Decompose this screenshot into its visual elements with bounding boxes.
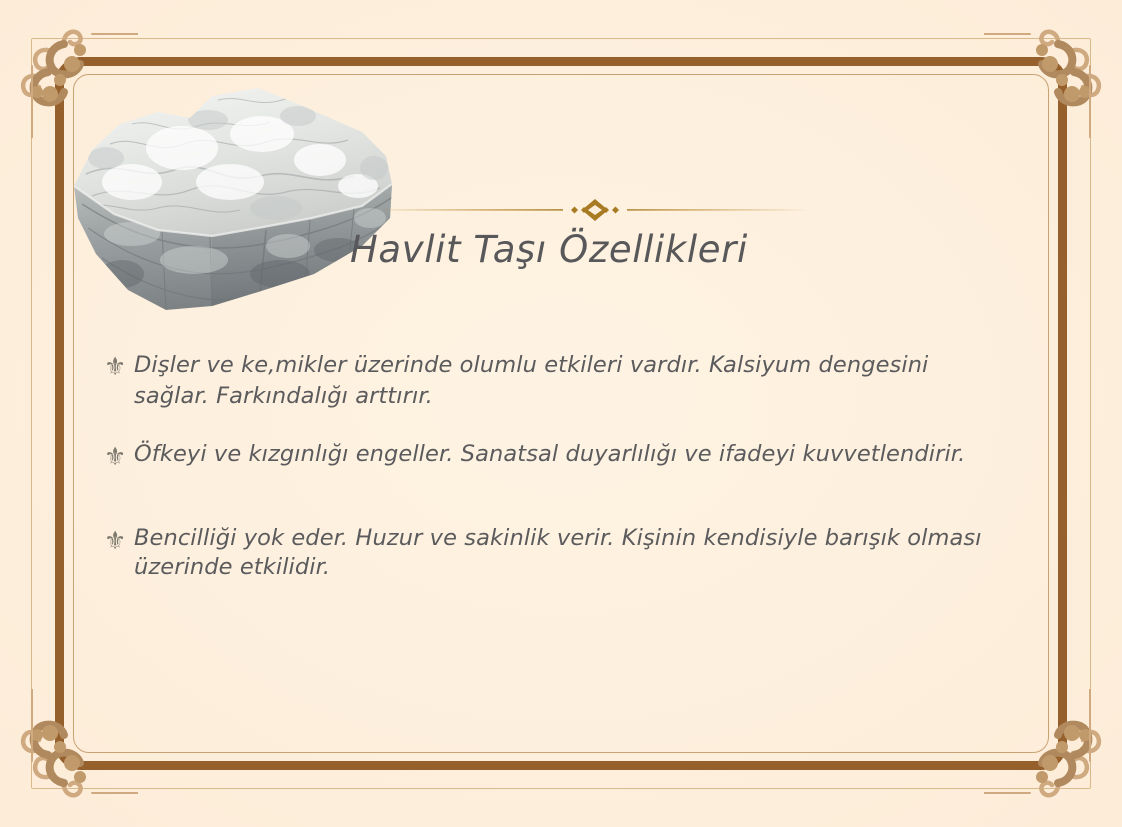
fleur-de-lis-icon: ⚜ — [104, 352, 134, 382]
list-item-text: Öfkeyi ve kızgınlığı engeller. Sanatsal … — [134, 440, 994, 469]
corner-flourish-icon-top-right — [984, 6, 1116, 138]
list-item-text: Bencilliği yok eder. Huzur ve sakinlik v… — [134, 524, 994, 582]
list-item: ⚜ Bencilliği yok eder. Huzur ve sakinlik… — [104, 524, 994, 582]
corner-flourish-icon-bottom-left — [6, 689, 138, 821]
howlite-stone-image — [62, 78, 402, 326]
corner-flourish-icon-bottom-right — [984, 689, 1116, 821]
fleur-de-lis-icon: ⚜ — [104, 442, 134, 472]
divider-ornament — [385, 198, 805, 222]
fleur-de-lis-icon: ⚜ — [104, 526, 134, 556]
page-title: Havlit Taşı Özellikleri — [350, 228, 1050, 271]
info-card: Havlit Taşı Özellikleri ⚜ Dişler ve ke,m… — [0, 0, 1122, 827]
list-item: ⚜ Öfkeyi ve kızgınlığı engeller. Sanatsa… — [104, 440, 994, 496]
list-item: ⚜ Dişler ve ke,mikler üzerinde olumlu et… — [104, 350, 994, 412]
properties-list: ⚜ Dişler ve ke,mikler üzerinde olumlu et… — [104, 350, 994, 610]
list-item-text: Dişler ve ke,mikler üzerinde olumlu etki… — [134, 350, 994, 412]
